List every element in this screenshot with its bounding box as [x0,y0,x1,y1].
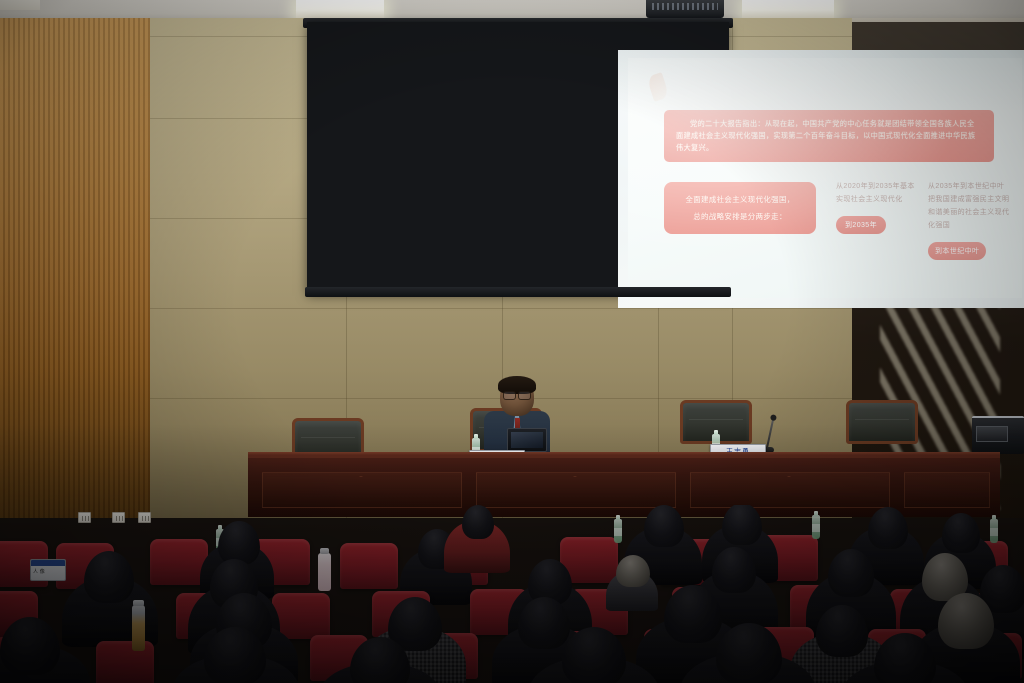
panel-seam [150,308,852,309]
slide-column-step1-body: 从2020年到2035年基本实现社会主义现代化 [836,180,918,206]
table-front-panel [904,472,990,508]
audience-head [562,627,626,683]
water-bottle [614,519,622,543]
slide-column-step2-body: 从2035年到本世纪中叶把我国建成富强民主文明和谐美丽的社会主义现代化强国 [928,180,1010,232]
ceiling-light-right [742,0,834,18]
audience-head [644,505,684,547]
av-equipment-rack [972,416,1024,454]
slide-column-step2: 从2035年到本世纪中叶把我国建成富强民主文明和谐美丽的社会主义现代化强国 到本… [928,180,1010,260]
audience-head [942,513,980,553]
stage-chair [846,400,918,444]
audience-head [0,617,60,675]
glasses-icon [503,391,531,398]
audience-head-gray [616,555,650,587]
slide-banner: 党的二十大报告指出：从现在起，中国共产党的中心任务就是团结带领全国各族人民全面建… [664,110,994,162]
ceiling-light-far-left [0,0,40,10]
seat[interactable] [96,641,154,683]
screen-bottom-bar [305,287,731,297]
projection-screen-frame: 党的二十大报告指出：从现在起，中国共产党的中心任务就是团结带领全国各族人民全面建… [307,22,729,294]
projection-screen-surface: 党的二十大报告指出：从现在起，中国共产党的中心任务就是团结带领全国各族人民全面建… [618,50,1024,308]
ceiling-light-left [296,0,384,18]
audience-head [712,547,756,593]
slide-canvas: 党的二十大报告指出：从现在起，中国共产党的中心任务就是团结带领全国各族人民全面建… [628,58,1022,298]
audience-head [462,505,494,539]
audience-area: 人 像 [0,505,1024,683]
slide-column-step1: 从2020年到2035年基本实现社会主义现代化 到2035年 [836,180,918,234]
seat[interactable] [340,543,398,589]
audience-head [722,505,762,545]
slide-column-step1-pill: 到2035年 [836,216,886,234]
wall-left-wood-slats [0,18,150,518]
slide-left-pill-line1: 全面建成社会主义现代化强国， [685,194,794,205]
audience-head [868,507,908,549]
slide-left-pill: 全面建成社会主义现代化强国， 总的战略安排是分两步走： [664,182,816,234]
projector-icon [646,0,724,18]
water-bottle [812,515,820,539]
lecture-hall-scene: 安全出口 党的二十大报告指出：从现在起，中国共产党的中心任务就是团结带领全国各族… [0,0,1024,683]
slide-decoration-icon [646,72,669,102]
slide-column-step2-pill: 到本世纪中叶 [928,242,986,260]
slide-banner-text: 党的二十大报告指出：从现在起，中国共产党的中心任务就是团结带领全国各族人民全面建… [676,118,982,154]
audience-head [84,551,134,603]
water-bottle [990,519,998,543]
placard-text: 人 像 [33,568,45,575]
thermos-flask [132,605,145,651]
laptop-screen [507,428,547,452]
placard-header-bar [31,560,65,566]
slide-left-pill-line2: 总的战略安排是分两步走： [693,211,787,222]
desk-placard: 人 像 [30,559,66,581]
pink-thermos [318,553,331,591]
audience-head [218,521,260,565]
